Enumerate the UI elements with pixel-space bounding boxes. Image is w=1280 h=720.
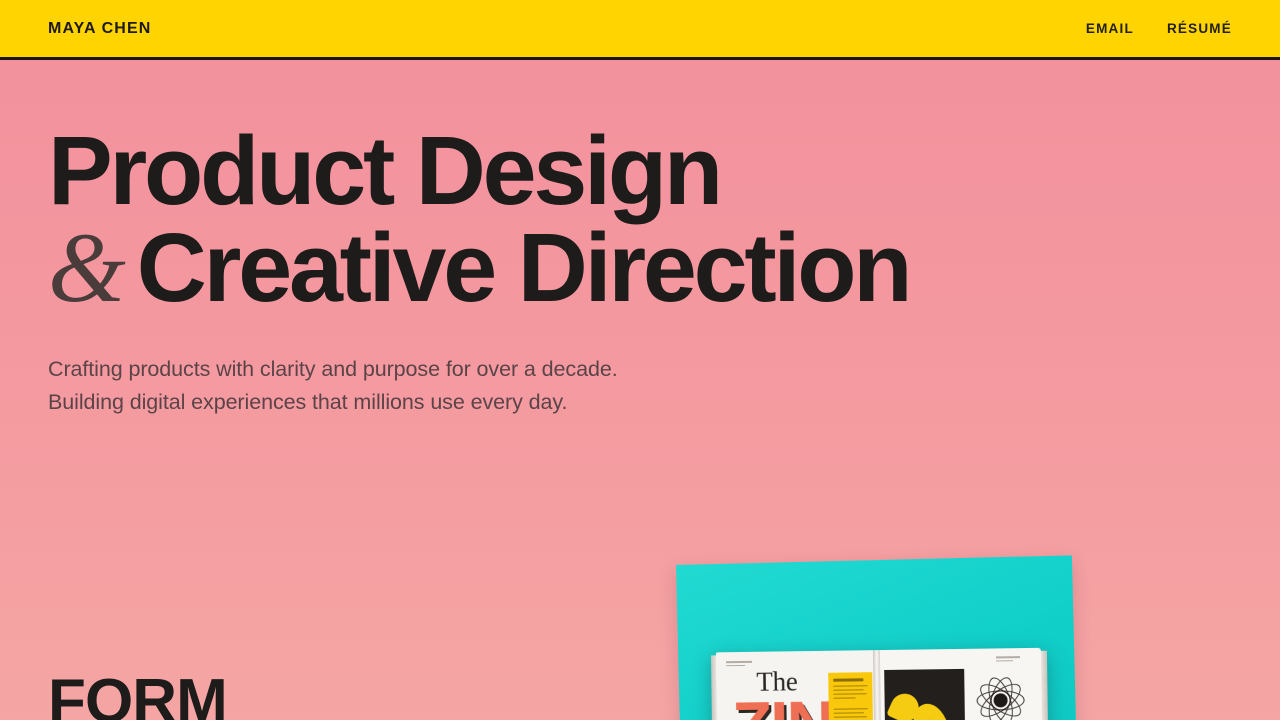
callout-heading-bar [833, 678, 863, 681]
primary-nav: EMAIL RÉSUMÉ [1086, 21, 1232, 36]
zine-dark-panel [884, 669, 966, 720]
atom-spirograph-icon [972, 672, 1029, 720]
nav-link-email[interactable]: EMAIL [1086, 21, 1134, 36]
page-header-lines-right [996, 656, 1020, 663]
open-magazine-image: The ZIN [716, 648, 1043, 720]
section-heading-form: FORM [48, 671, 227, 720]
magazine-page-left: The ZIN [716, 650, 878, 720]
headline-line-2: &Creative Direction [48, 219, 909, 318]
site-header: MAYA CHEN EMAIL RÉSUMÉ [0, 0, 1280, 60]
headline-line-1: Product Design [48, 123, 909, 219]
magazine-page-right [876, 648, 1043, 720]
ampersand-glyph: & [48, 212, 137, 323]
zine-photo-figure: The ZIN [676, 555, 1082, 720]
hero-subtitle: Crafting products with clarity and purpo… [48, 353, 618, 418]
hero-section: Product Design &Creative Direction Craft… [0, 63, 1280, 720]
nav-link-resume[interactable]: RÉSUMÉ [1167, 21, 1232, 36]
zine-yellow-callout [828, 672, 874, 720]
zine-title-zin: ZIN [731, 691, 832, 720]
subtitle-line-2: Building digital experiences that millio… [48, 386, 618, 419]
atom-nucleus [994, 693, 1008, 707]
page-header-lines-left [726, 661, 752, 668]
headline-line-2-text: Creative Direction [137, 213, 910, 322]
brand-wordmark[interactable]: MAYA CHEN [48, 20, 151, 38]
page-title: Product Design &Creative Direction [48, 123, 909, 317]
subtitle-line-1: Crafting products with clarity and purpo… [48, 353, 618, 386]
